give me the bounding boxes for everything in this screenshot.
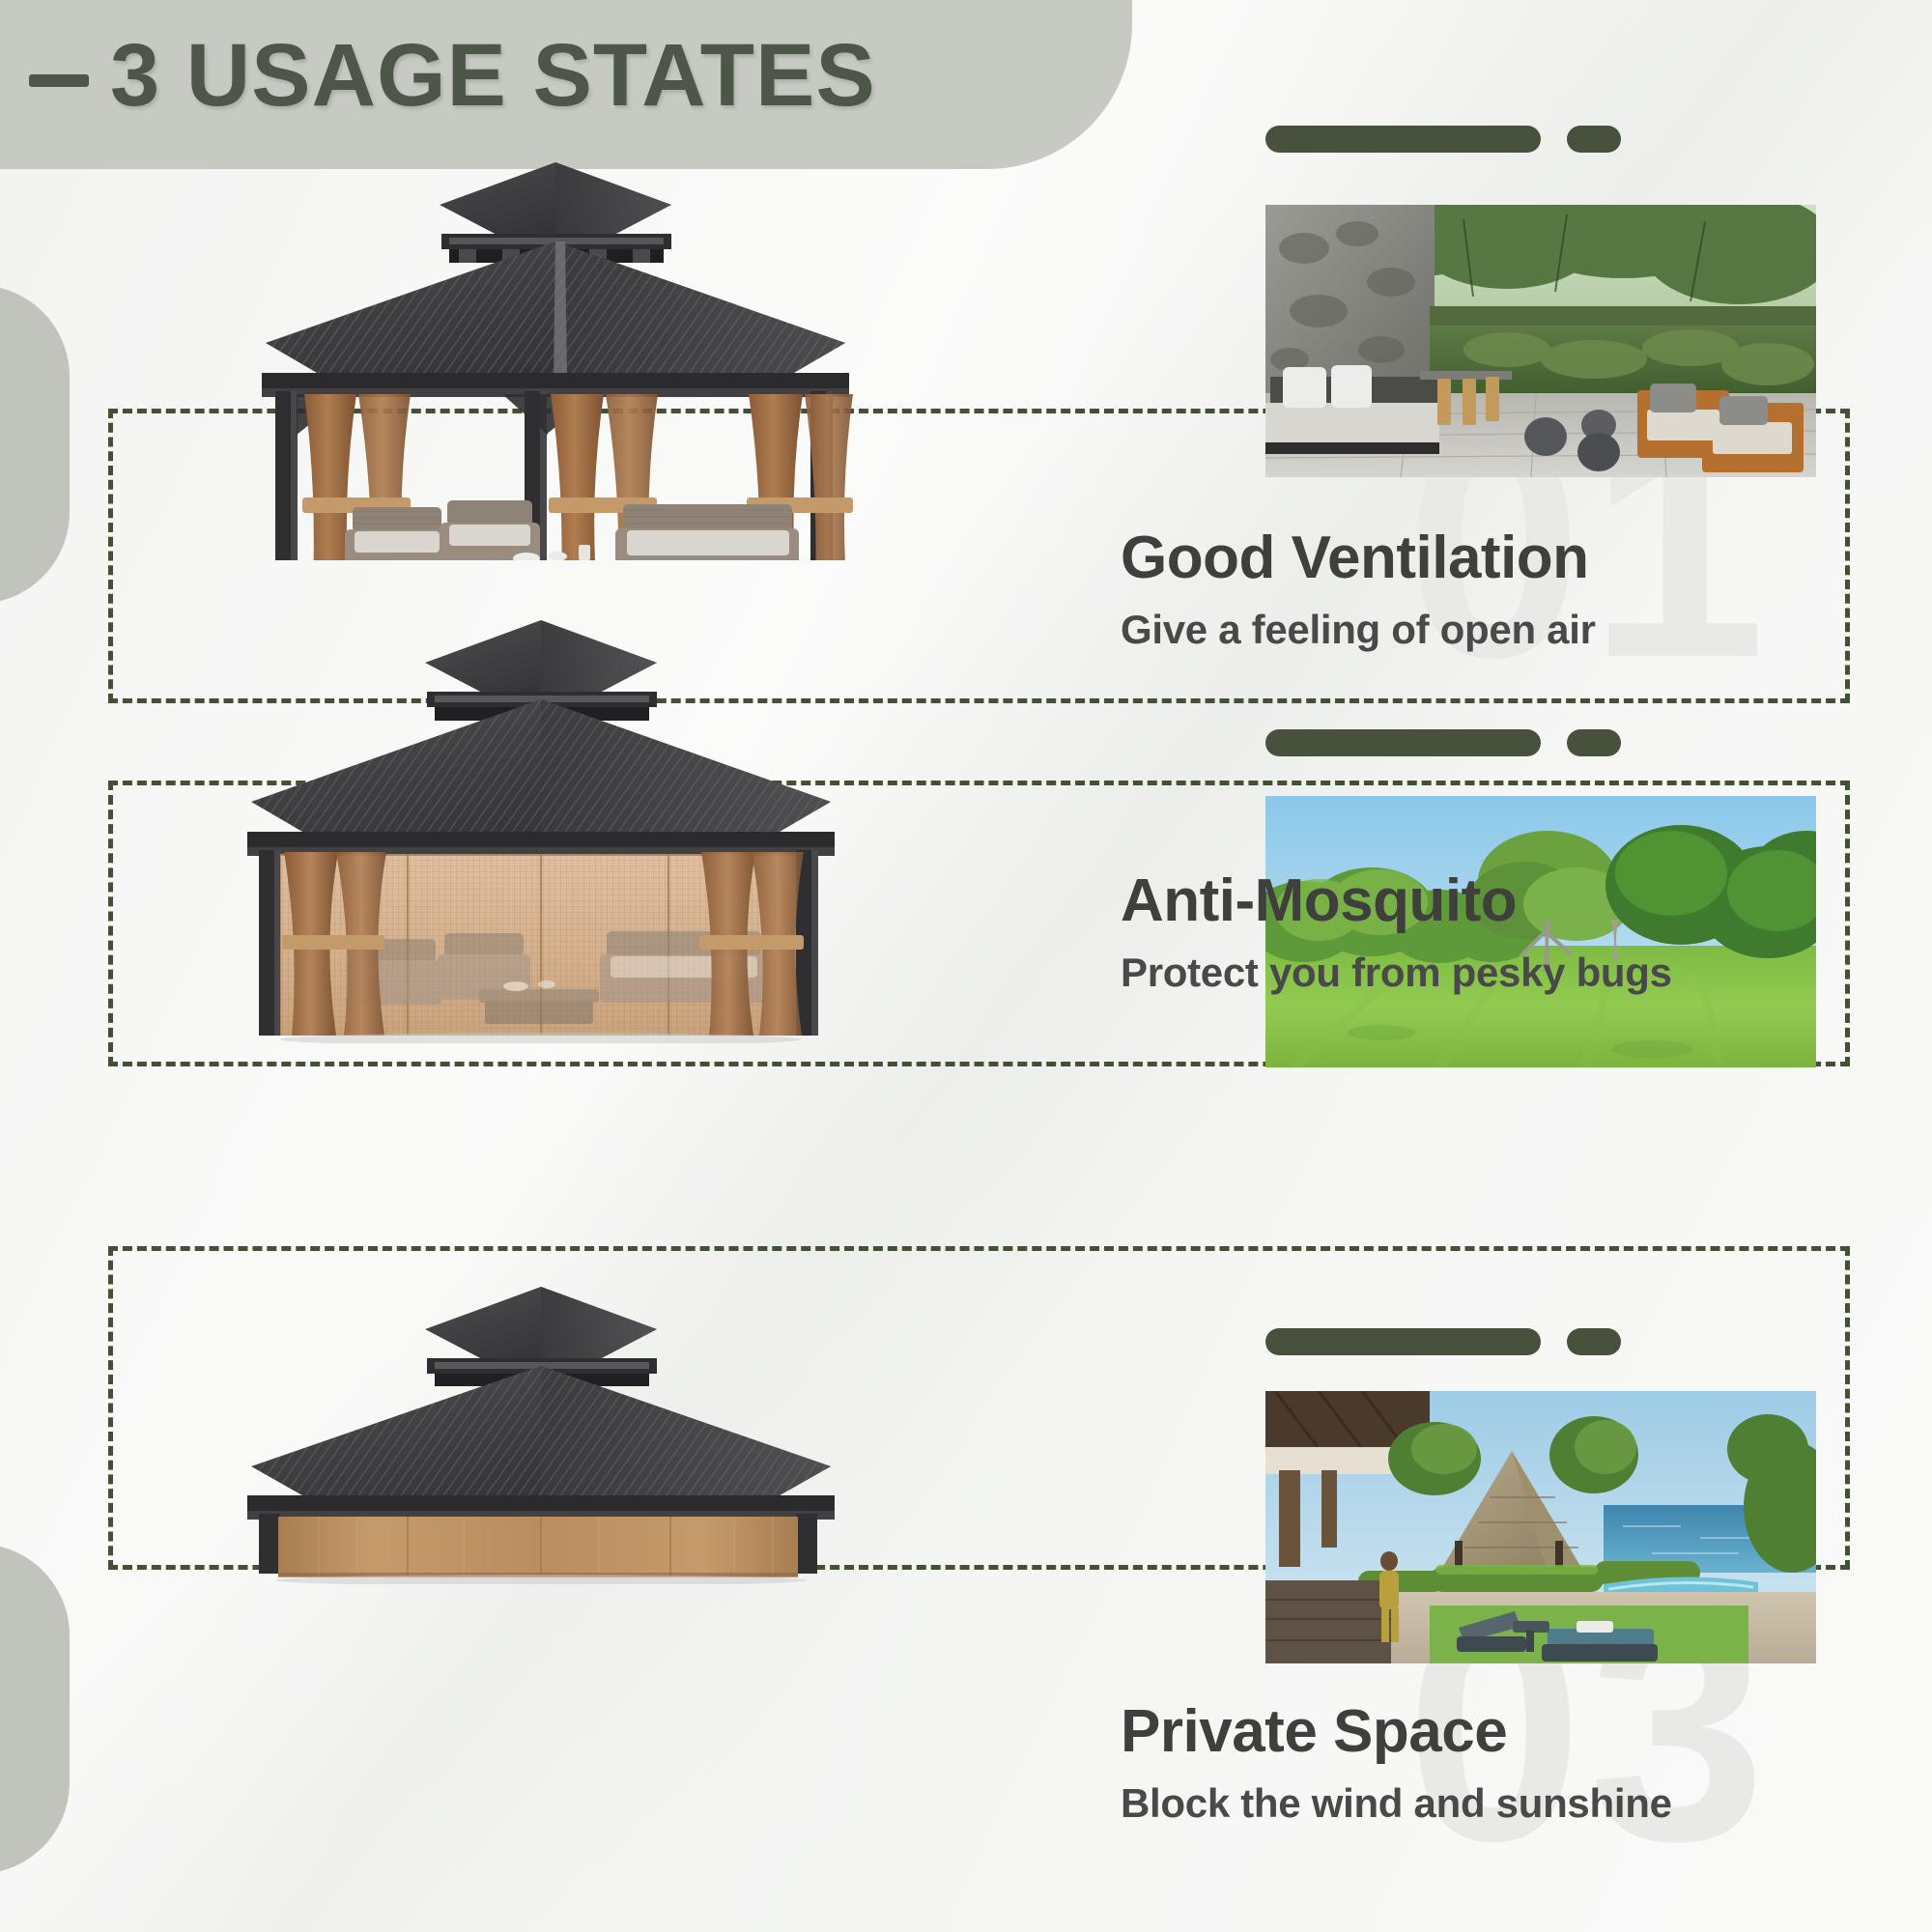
- product-illustration-2: [155, 599, 927, 1043]
- section-text-3: Private Space Block the wind and sunshin…: [1121, 1700, 1672, 1827]
- decor-bar-long-2: [1265, 729, 1541, 756]
- decor-bars-3: [1265, 1328, 1621, 1355]
- page-title: 3 USAGE STATES: [29, 25, 876, 127]
- decor-bar-short-2: [1567, 729, 1621, 756]
- section-text-1: Good Ventilation Give a feeling of open …: [1121, 526, 1596, 653]
- section-text-2: Anti-Mosquito Protect you from pesky bug…: [1121, 869, 1672, 996]
- section-subheading-2: Protect you from pesky bugs: [1121, 950, 1672, 996]
- page-title-text: 3 USAGE STATES: [110, 25, 876, 127]
- decor-bar-long-3: [1265, 1328, 1541, 1355]
- section-private-space: 03: [0, 1285, 1932, 1932]
- lifestyle-photo-1: [1265, 205, 1816, 477]
- section-subheading-3: Block the wind and sunshine: [1121, 1780, 1672, 1827]
- decor-bars-2: [1265, 729, 1621, 756]
- decor-bar-short-1: [1567, 126, 1621, 153]
- section-heading-3: Private Space: [1121, 1700, 1672, 1763]
- em-dash-icon: [29, 74, 89, 87]
- decor-bar-short-3: [1567, 1328, 1621, 1355]
- product-illustration-1: [169, 145, 942, 560]
- section-heading-1: Good Ventilation: [1121, 526, 1596, 589]
- lifestyle-photo-3: [1265, 1391, 1816, 1663]
- product-illustration-3: [155, 1043, 927, 1584]
- decor-bars-1: [1265, 126, 1621, 153]
- decor-bar-long-1: [1265, 126, 1541, 153]
- section-subheading-1: Give a feeling of open air: [1121, 607, 1596, 653]
- section-heading-2: Anti-Mosquito: [1121, 869, 1672, 932]
